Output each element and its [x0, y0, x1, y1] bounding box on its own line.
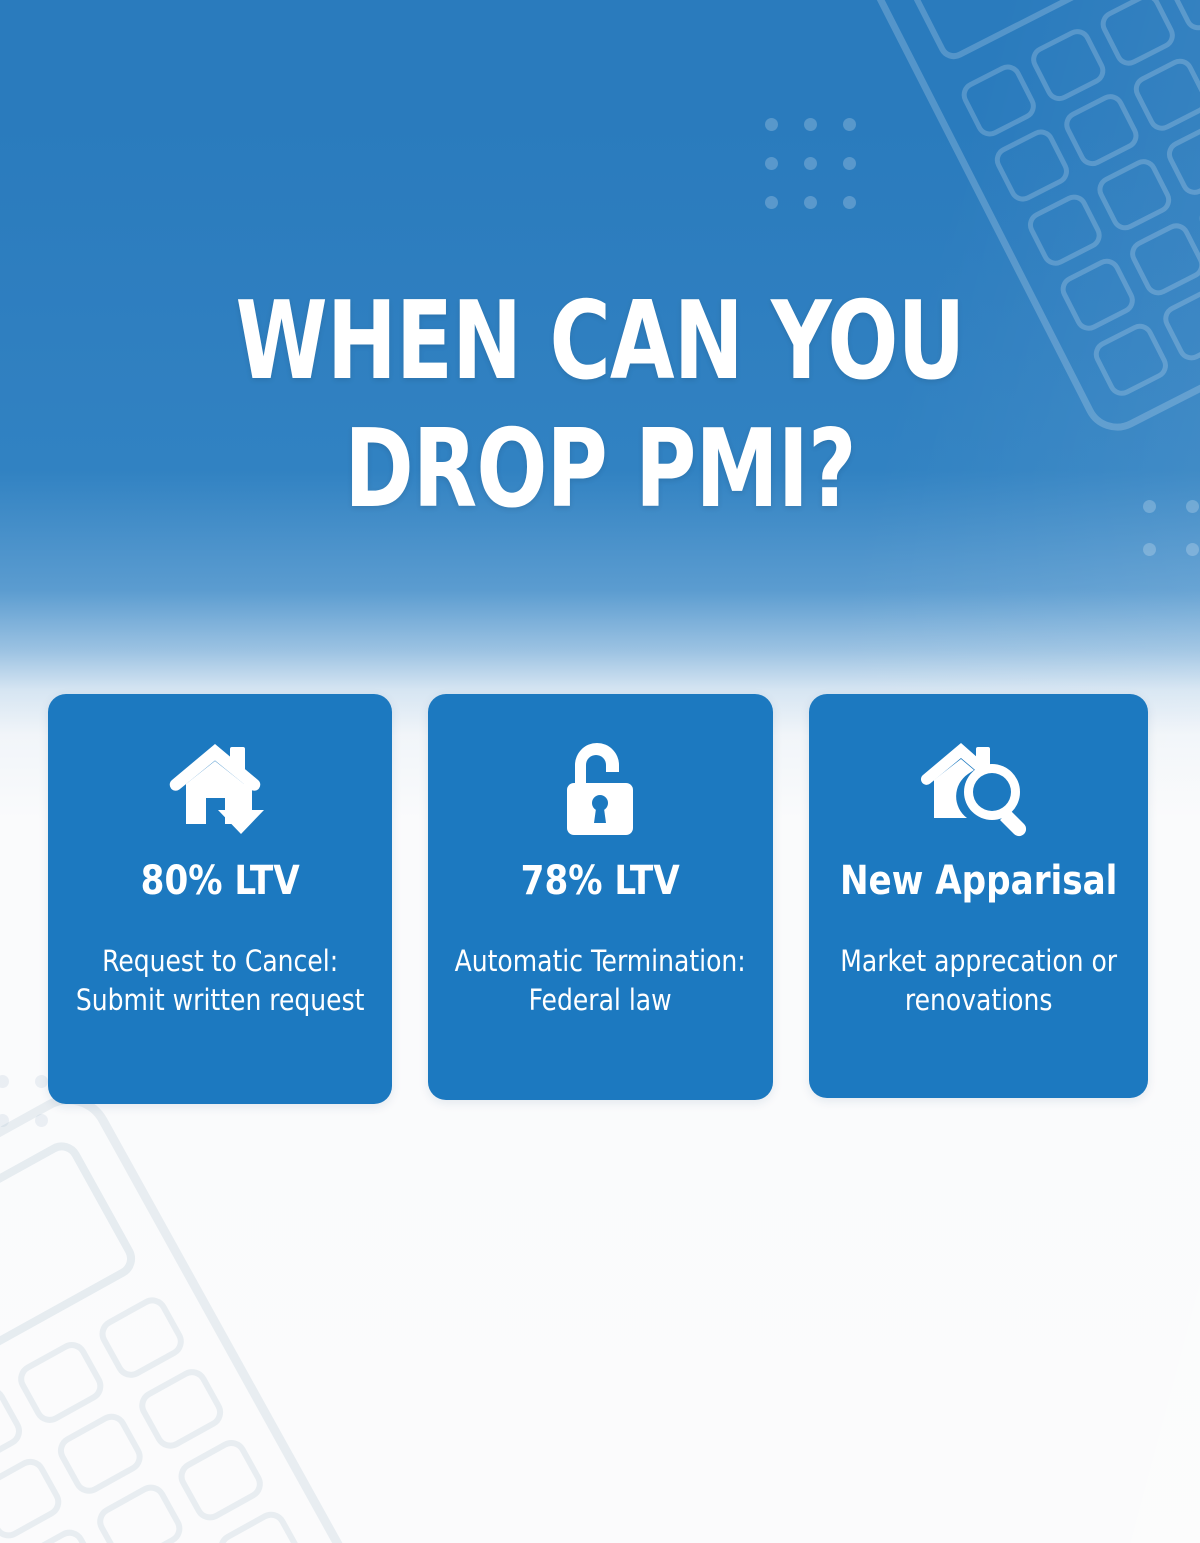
card-body-line: Submit written request	[72, 981, 368, 1020]
dot-grid-icon	[0, 1075, 48, 1127]
page-title-line-1: WHEN CAN YOU	[84, 278, 1116, 406]
card-heading: 80% LTV	[74, 858, 367, 904]
open-padlock-icon	[446, 738, 754, 842]
card-body-line: renovations	[833, 981, 1124, 1020]
card-body-line: Request to Cancel:	[72, 942, 368, 981]
dot-grid-icon	[1143, 500, 1199, 556]
card-body: Market apprecation or renovations	[833, 942, 1124, 1020]
card-body: Request to Cancel: Submit written reques…	[72, 942, 368, 1020]
card-body-line: Federal law	[452, 981, 748, 1020]
house-down-arrow-icon	[66, 738, 374, 842]
pmi-infographic-poster: WHEN CAN YOU DROP PMI? 80% LTV Req	[0, 0, 1200, 1543]
card-heading: 78% LTV	[454, 858, 747, 904]
card-new-appraisal: New Apparisal Market apprecation or reno…	[809, 694, 1148, 1098]
card-heading: New Apparisal	[834, 858, 1122, 904]
page-title-line-2: DROP PMI?	[84, 406, 1116, 534]
house-magnifier-icon	[827, 738, 1130, 842]
card-78-ltv: 78% LTV Automatic Termination: Federal l…	[428, 694, 772, 1100]
card-80-ltv: 80% LTV Request to Cancel: Submit writte…	[48, 694, 392, 1104]
card-row: 80% LTV Request to Cancel: Submit writte…	[48, 694, 1148, 1104]
page-title: WHEN CAN YOU DROP PMI?	[84, 278, 1116, 534]
dot-grid-icon	[765, 118, 856, 209]
card-body-line: Market apprecation or	[833, 942, 1124, 981]
card-body: Automatic Termination: Federal law	[452, 942, 748, 1020]
card-body-line: Automatic Termination:	[452, 942, 748, 981]
